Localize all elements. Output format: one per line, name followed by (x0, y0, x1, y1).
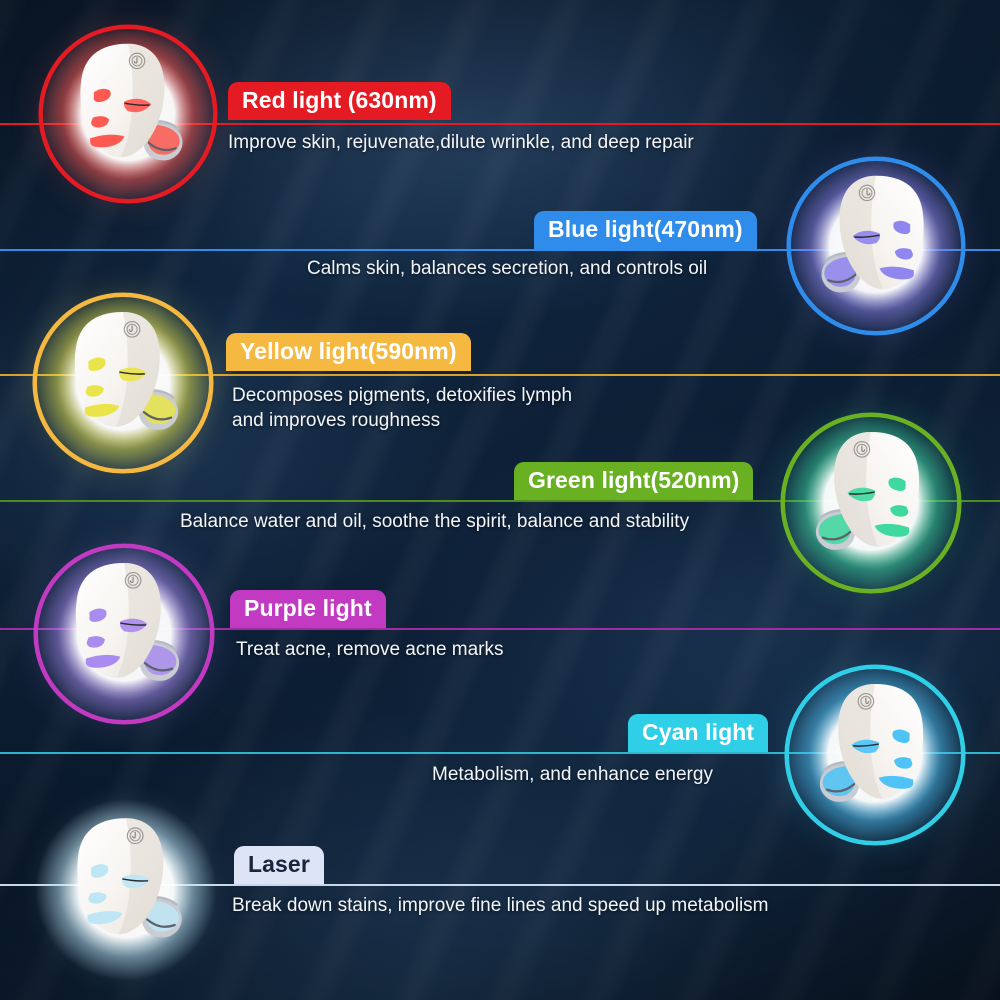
led-mask-illustration (38, 24, 218, 204)
power-button-icon (129, 53, 144, 68)
mask-circle-green (780, 412, 962, 594)
badge-red: Red light (630nm) (228, 82, 451, 120)
description-green: Balance water and oil, soothe the spirit… (180, 509, 689, 534)
mask-circle-red (38, 24, 218, 204)
description-cyan: Metabolism, and enhance energy (432, 762, 713, 787)
led-mask-illustration (780, 412, 962, 594)
power-button-icon (124, 322, 139, 337)
led-mask-illustration (32, 292, 214, 474)
mask-circle-cyan (784, 664, 966, 846)
led-mask-illustration (34, 798, 218, 982)
power-button-icon (854, 442, 869, 457)
power-button-icon (859, 185, 874, 200)
description-purple: Treat acne, remove acne marks (236, 637, 504, 662)
led-mask-illustration (784, 664, 966, 846)
badge-yellow: Yellow light(590nm) (226, 333, 471, 371)
led-mask-illustration (786, 156, 966, 336)
badge-purple: Purple light (230, 590, 386, 628)
description-yellow: Decomposes pigments, detoxifies lymph an… (232, 383, 572, 434)
mask-circle-purple (33, 543, 215, 725)
description-red: Improve skin, rejuvenate,dilute wrinkle,… (228, 130, 694, 155)
power-button-icon (127, 828, 143, 844)
mask-circle-yellow (32, 292, 214, 474)
description-blue: Calms skin, balances secretion, and cont… (307, 256, 707, 281)
power-button-icon (858, 694, 873, 709)
mask-circle-laser (34, 798, 218, 982)
led-mask-illustration (33, 543, 215, 725)
badge-green: Green light(520nm) (514, 462, 753, 500)
badge-laser: Laser (234, 846, 324, 884)
mask-circle-blue (786, 156, 966, 336)
infographic-canvas: Red light (630nm) Blue light(470nm) Yell… (0, 0, 1000, 1000)
description-laser: Break down stains, improve fine lines an… (232, 893, 769, 918)
badge-blue: Blue light(470nm) (534, 211, 757, 249)
power-button-icon (125, 573, 140, 588)
badge-cyan: Cyan light (628, 714, 768, 752)
